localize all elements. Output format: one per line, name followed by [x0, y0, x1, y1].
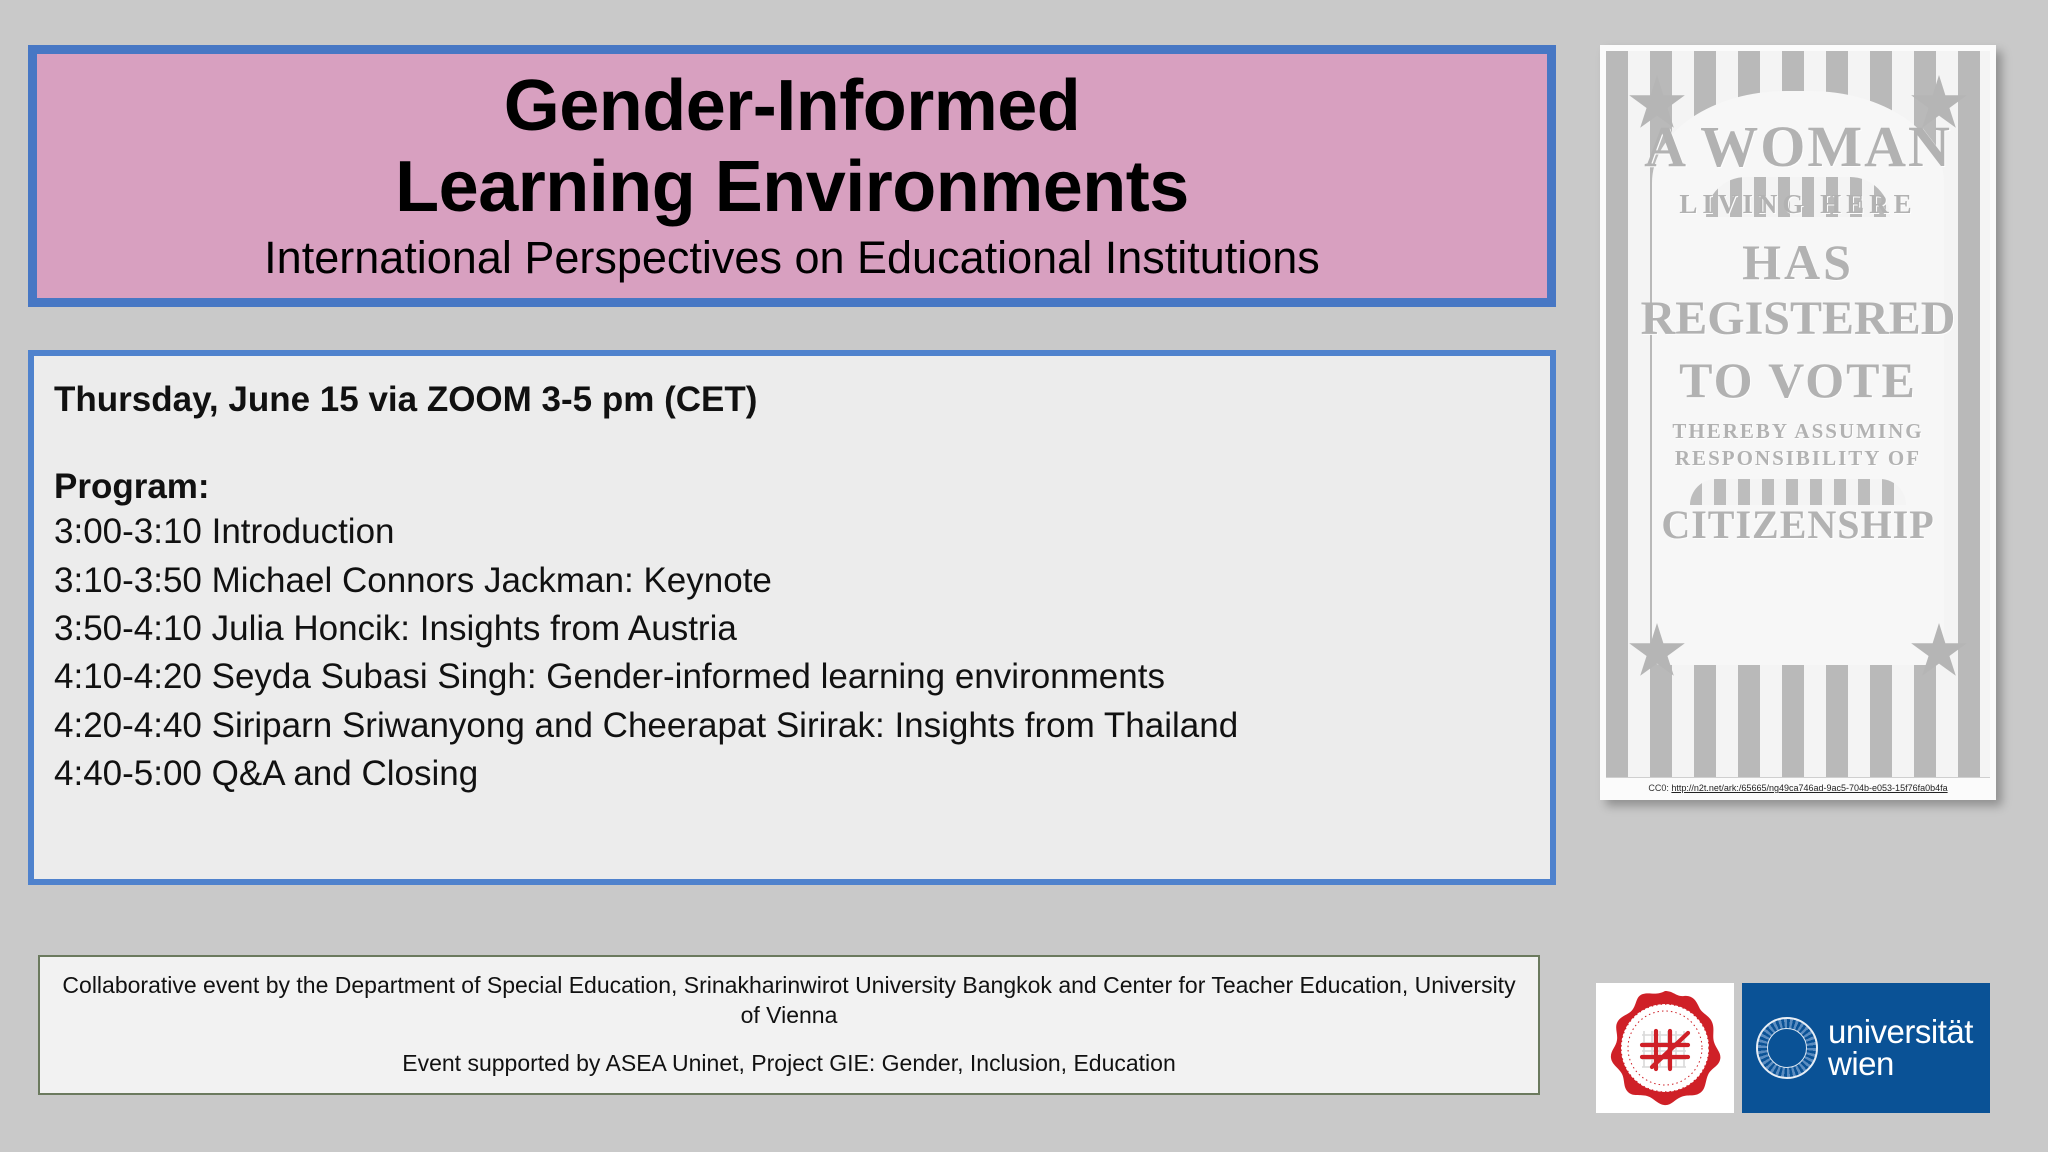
poster-text-has: HAS — [1606, 233, 1990, 291]
presentation-slide: Gender-Informed Learning Environments In… — [0, 0, 2048, 1152]
attribution-link[interactable]: http://n2t.net/ark:/65665/ng49ca746ad-9a… — [1671, 783, 1947, 793]
poster-text-responsibility-of: RESPONSIBILITY OF — [1606, 446, 1990, 471]
univie-seal-icon — [1756, 1017, 1818, 1079]
event-datetime: Thursday, June 15 via ZOOM 3-5 pm (CET) — [54, 378, 1550, 422]
collaboration-credit: Collaborative event by the Department of… — [54, 971, 1524, 1031]
program-item: 4:20-4:40 Siriparn Sriwanyong and Cheera… — [54, 702, 1550, 750]
suffrage-poster: A WOMAN LIVING HERE HAS REGISTERED TO VO… — [1600, 45, 1996, 800]
univie-wordmark-line-1: universität — [1828, 1016, 1973, 1048]
univie-wordmark-line-2: wien — [1828, 1048, 1973, 1080]
credit-box: Collaborative event by the Department of… — [38, 955, 1540, 1095]
partner-logos: universität wien — [1596, 983, 1990, 1113]
poster-text-to-vote: TO VOTE — [1606, 351, 1990, 409]
support-credit: Event supported by ASEA Uninet, Project … — [402, 1049, 1176, 1079]
program-item: 3:10-3:50 Michael Connors Jackman: Keyno… — [54, 557, 1550, 605]
program-item: 4:10-4:20 Seyda Subasi Singh: Gender-inf… — [54, 653, 1550, 701]
poster-text-citizenship: CITIZENSHIP — [1606, 501, 1990, 548]
program-item: 4:40-5:00 Q&A and Closing — [54, 750, 1550, 798]
poster-text-registered: REGISTERED — [1606, 291, 1990, 346]
poster-text-thereby-assuming: THEREBY ASSUMING — [1606, 419, 1990, 444]
program-box: Thursday, June 15 via ZOOM 3-5 pm (CET) … — [28, 350, 1556, 885]
program-item: 3:00-3:10 Introduction — [54, 508, 1550, 556]
srinakharinwirot-university-logo — [1596, 983, 1734, 1113]
poster-artwork: A WOMAN LIVING HERE HAS REGISTERED TO VO… — [1606, 51, 1990, 777]
poster-text-woman: A WOMAN — [1606, 113, 1990, 180]
title-line-2: Learning Environments — [395, 147, 1189, 228]
univie-wordmark: universität wien — [1828, 1016, 1973, 1081]
license-label: CC0: — [1648, 783, 1671, 793]
university-of-vienna-logo: universität wien — [1742, 983, 1990, 1113]
poster-attribution: CC0: http://n2t.net/ark:/65665/ng49ca746… — [1606, 777, 1990, 800]
swu-seal-icon — [1604, 987, 1726, 1109]
program-heading: Program: — [54, 466, 1550, 509]
poster-text-living-here: LIVING HERE — [1606, 189, 1990, 220]
title-banner: Gender-Informed Learning Environments In… — [28, 45, 1556, 307]
title-subtitle: International Perspectives on Educationa… — [264, 233, 1320, 283]
program-item: 3:50-4:10 Julia Honcik: Insights from Au… — [54, 605, 1550, 653]
title-line-1: Gender-Informed — [504, 66, 1081, 147]
